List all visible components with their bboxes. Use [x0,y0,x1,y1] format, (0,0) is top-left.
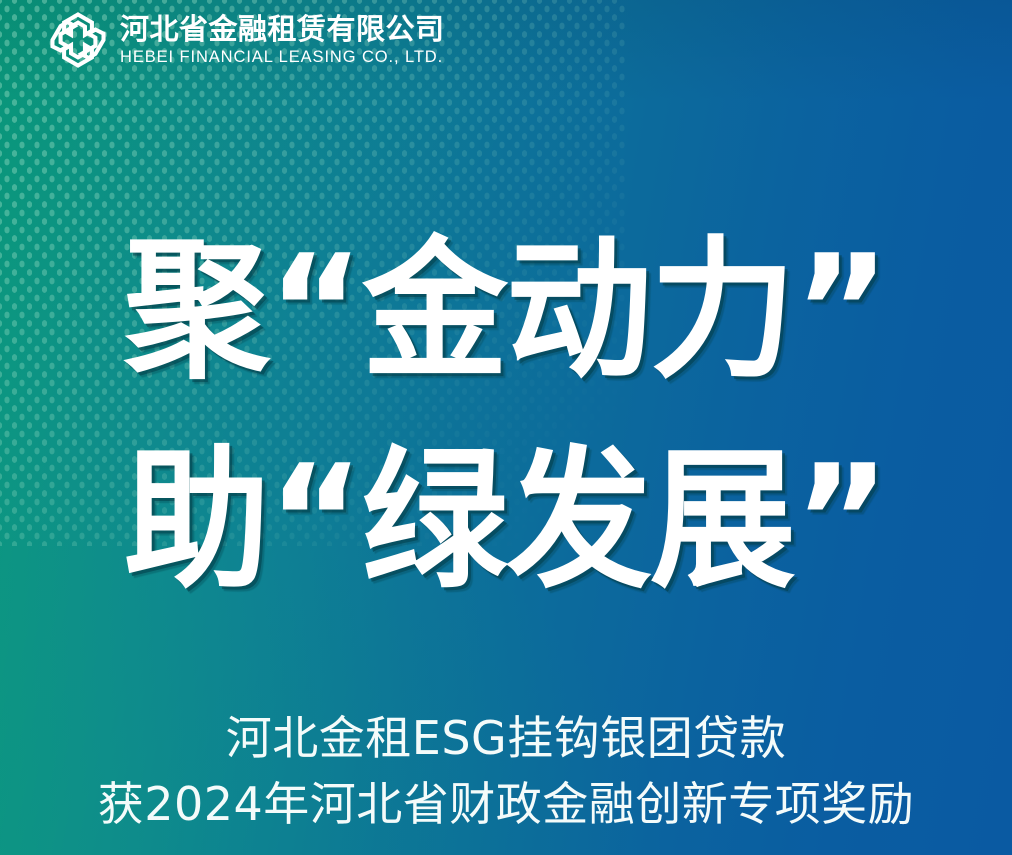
subheadline-block: 河北金租ESG挂钩银团贷款 获2024年河北省财政金融创新专项奖励 [0,706,1012,837]
brand-lockup: 河北省金融租赁有限公司 HEBEI FINANCIAL LEASING CO.,… [49,11,445,69]
brand-name-en: HEBEI FINANCIAL LEASING CO., LTD. [120,49,445,66]
subheadline-line-1: 河北金租ESG挂钩银团贷款 [0,706,1012,771]
company-logo-icon [49,11,107,69]
brand-text-block: 河北省金融租赁有限公司 HEBEI FINANCIAL LEASING CO.,… [120,15,445,66]
subheadline-line-2: 获2024年河北省财政金融创新专项奖励 [0,772,1012,837]
headline-line-2: 助“绿发展” [20,416,992,626]
brand-name-cn: 河北省金融租赁有限公司 [120,15,445,44]
headline-line-1: 聚“金动力” [20,206,992,416]
poster-canvas: 河北省金融租赁有限公司 HEBEI FINANCIAL LEASING CO.,… [0,0,1012,855]
headline-block: 聚“金动力” 助“绿发展” [0,206,1012,626]
